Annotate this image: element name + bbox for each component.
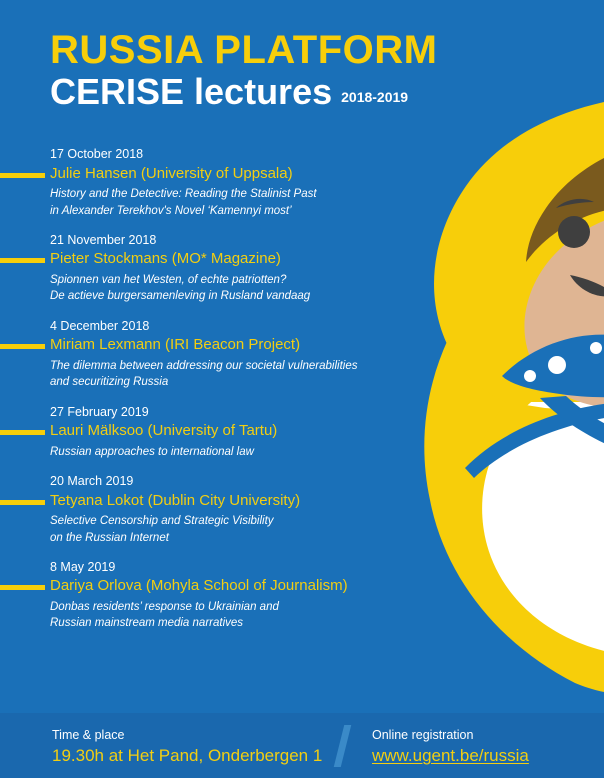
lecture-description-line: Russian approaches to international law (50, 444, 420, 460)
lecture-entry: 20 March 2019Tetyana Lokot (Dublin City … (0, 473, 420, 546)
doll-body-shape (424, 260, 604, 700)
lecture-date: 20 March 2019 (50, 473, 420, 490)
poster-header: RUSSIA PLATFORM CERISE lectures 2018-201… (50, 30, 437, 110)
lecture-list: 17 October 2018Julie Hansen (University … (0, 146, 420, 645)
lecture-description: History and the Detective: Reading the S… (50, 186, 420, 219)
registration-link[interactable]: www.ugent.be/russia (372, 746, 529, 765)
lecture-description-line: Selective Censorship and Strategic Visib… (50, 513, 420, 529)
lecture-description-line: and securitizing Russia (50, 374, 420, 390)
lecture-description-line: Russian mainstream media narratives (50, 615, 420, 631)
lecture-date: 4 December 2018 (50, 318, 420, 335)
lecture-description: Selective Censorship and Strategic Visib… (50, 513, 420, 546)
doll-face (524, 206, 604, 408)
doll-petal-decoration (502, 335, 604, 398)
lecture-speaker: Tetyana Lokot (Dublin City University) (50, 491, 420, 512)
doll-petal-dot-small (524, 370, 536, 382)
title-sub-row: CERISE lectures 2018-2019 (50, 74, 437, 111)
poster: RUSSIA PLATFORM CERISE lectures 2018-201… (0, 0, 604, 778)
lecture-description-line: in Alexander Terekhov's Novel ‘Kamennyi … (50, 203, 420, 219)
doll-mouth (570, 275, 604, 296)
lecture-entry: 4 December 2018Miriam Lexmann (IRI Beaco… (0, 318, 420, 391)
lecture-entry: 27 February 2019Lauri Mälksoo (Universit… (0, 404, 420, 461)
lecture-entry: 17 October 2018Julie Hansen (University … (0, 146, 420, 219)
lecture-speaker: Miriam Lexmann (IRI Beacon Project) (50, 335, 420, 356)
lecture-dash-marker (0, 585, 45, 590)
lecture-dash-marker (0, 500, 45, 505)
lecture-description-line: Spionnen van het Westen, of echte patrio… (50, 272, 420, 288)
lecture-dash-marker (0, 173, 45, 178)
lecture-description: Russian approaches to international law (50, 444, 420, 460)
doll-headscarf (434, 92, 604, 402)
title-years: 2018-2019 (341, 89, 408, 105)
lecture-dash-marker (0, 344, 45, 349)
lecture-speaker: Pieter Stockmans (MO* Magazine) (50, 249, 420, 270)
lecture-date: 8 May 2019 (50, 559, 420, 576)
lecture-speaker: Julie Hansen (University of Uppsala) (50, 164, 420, 185)
poster-footer: Time & place 19.30h at Het Pand, Onderbe… (0, 713, 604, 778)
lecture-date: 17 October 2018 (50, 146, 420, 163)
lecture-dash-marker (0, 430, 45, 435)
lecture-speaker: Lauri Mälksoo (University of Tartu) (50, 421, 420, 442)
lecture-date: 21 November 2018 (50, 232, 420, 249)
time-place-value: 19.30h at Het Pand, Onderbergen 1 (52, 745, 322, 767)
doll-blue-curve (465, 401, 604, 478)
lecture-speaker: Dariya Orlova (Mohyla School of Journali… (50, 576, 420, 597)
lecture-description: Donbas residents’ response to Ukrainian … (50, 599, 420, 632)
doll-scarf-wrap (470, 392, 604, 472)
doll-eyebrow (556, 199, 594, 208)
title-main: RUSSIA PLATFORM (50, 30, 437, 72)
lecture-entry: 21 November 2018Pieter Stockmans (MO* Ma… (0, 232, 420, 305)
footer-slash-divider (334, 725, 351, 767)
lecture-description-line: The dilemma between addressing our socie… (50, 358, 420, 374)
lecture-description: Spionnen van het Westen, of echte patrio… (50, 272, 420, 305)
lecture-description-line: Donbas residents’ response to Ukrainian … (50, 599, 420, 615)
lecture-description-line: History and the Detective: Reading the S… (50, 186, 420, 202)
doll-apron (482, 380, 604, 658)
lecture-description-line: on the Russian Internet (50, 530, 420, 546)
lecture-entry: 8 May 2019Dariya Orlova (Mohyla School o… (0, 559, 420, 632)
doll-blue-curve-lower (540, 396, 604, 470)
footer-registration: Online registration www.ugent.be/russia (372, 727, 529, 767)
doll-petal-dot-large (548, 356, 566, 374)
footer-time-place: Time & place 19.30h at Het Pand, Onderbe… (52, 727, 322, 767)
lecture-description-line: De actieve burgersamenleving in Rusland … (50, 288, 420, 304)
lecture-date: 27 February 2019 (50, 404, 420, 421)
doll-eye (558, 216, 590, 248)
lecture-description: The dilemma between addressing our socie… (50, 358, 420, 391)
doll-hair (526, 135, 604, 262)
title-sub: CERISE lectures (50, 74, 332, 111)
registration-label: Online registration (372, 727, 529, 743)
registration-value: www.ugent.be/russia (372, 745, 529, 767)
time-place-label: Time & place (52, 727, 322, 743)
lecture-dash-marker (0, 258, 45, 263)
doll-petal-dot-tiny (590, 342, 602, 354)
